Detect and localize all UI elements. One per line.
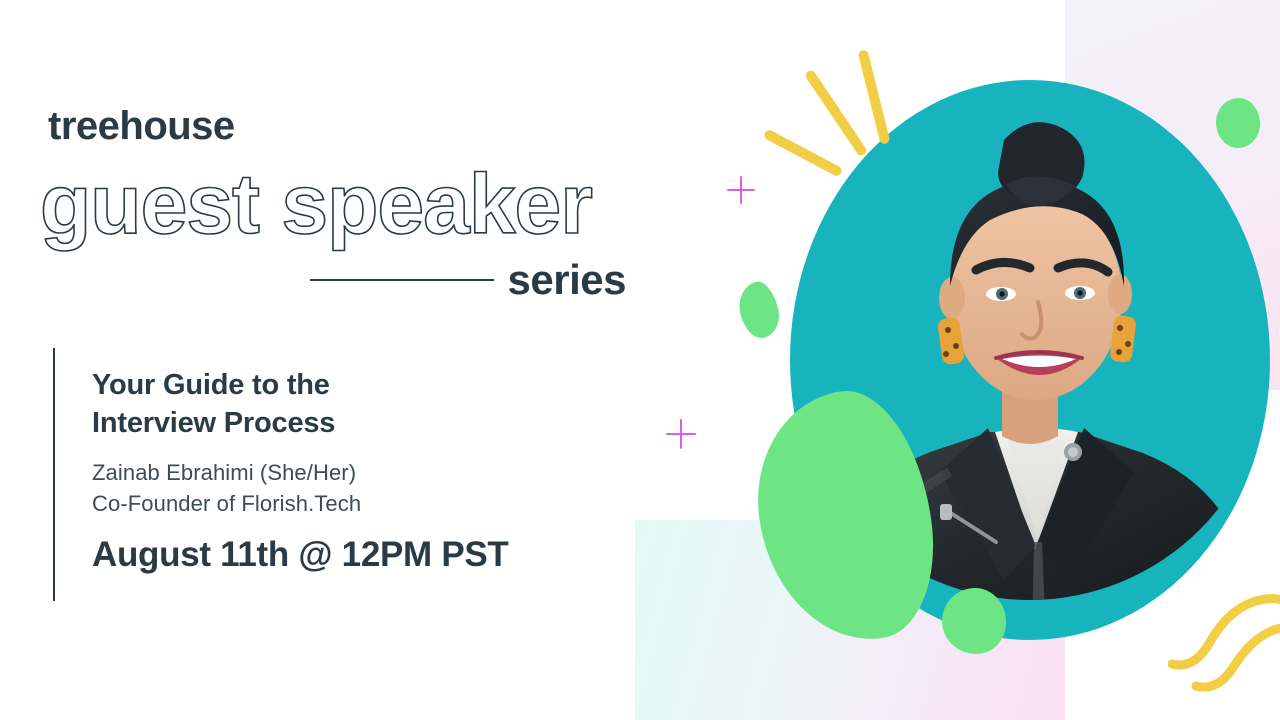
headline-outline: guest speaker <box>40 162 592 246</box>
talk-title-line-2: Interview Process <box>92 404 612 442</box>
speaker-role: Co-Founder of Florish.Tech <box>92 488 612 520</box>
promo-slide: treehouse guest speaker series Your Guid… <box>0 0 1280 720</box>
series-row: series <box>310 255 626 305</box>
green-blob-topright <box>1216 98 1260 148</box>
event-info-block: Your Guide to the Interview Process Zain… <box>92 366 612 575</box>
talk-title: Your Guide to the Interview Process <box>92 366 612 443</box>
squiggle-pair-icon <box>1168 586 1280 698</box>
green-blob-small <box>942 588 1006 654</box>
speaker-lines: Zainab Ebrahimi (She/Her) Co-Founder of … <box>92 457 612 521</box>
event-datetime: August 11th @ 12PM PST <box>92 536 612 575</box>
speaker-name: Zainab Ebrahimi (She/Her) <box>92 457 612 489</box>
vertical-accent-rule <box>53 348 55 601</box>
treehouse-wordmark: treehouse <box>48 106 235 146</box>
plus-mark-lower <box>666 419 696 449</box>
series-divider <box>310 279 494 281</box>
plus-mark-upper <box>727 176 755 204</box>
series-label: series <box>508 259 626 301</box>
green-blob-left <box>734 278 784 342</box>
talk-title-line-1: Your Guide to the <box>92 366 612 404</box>
